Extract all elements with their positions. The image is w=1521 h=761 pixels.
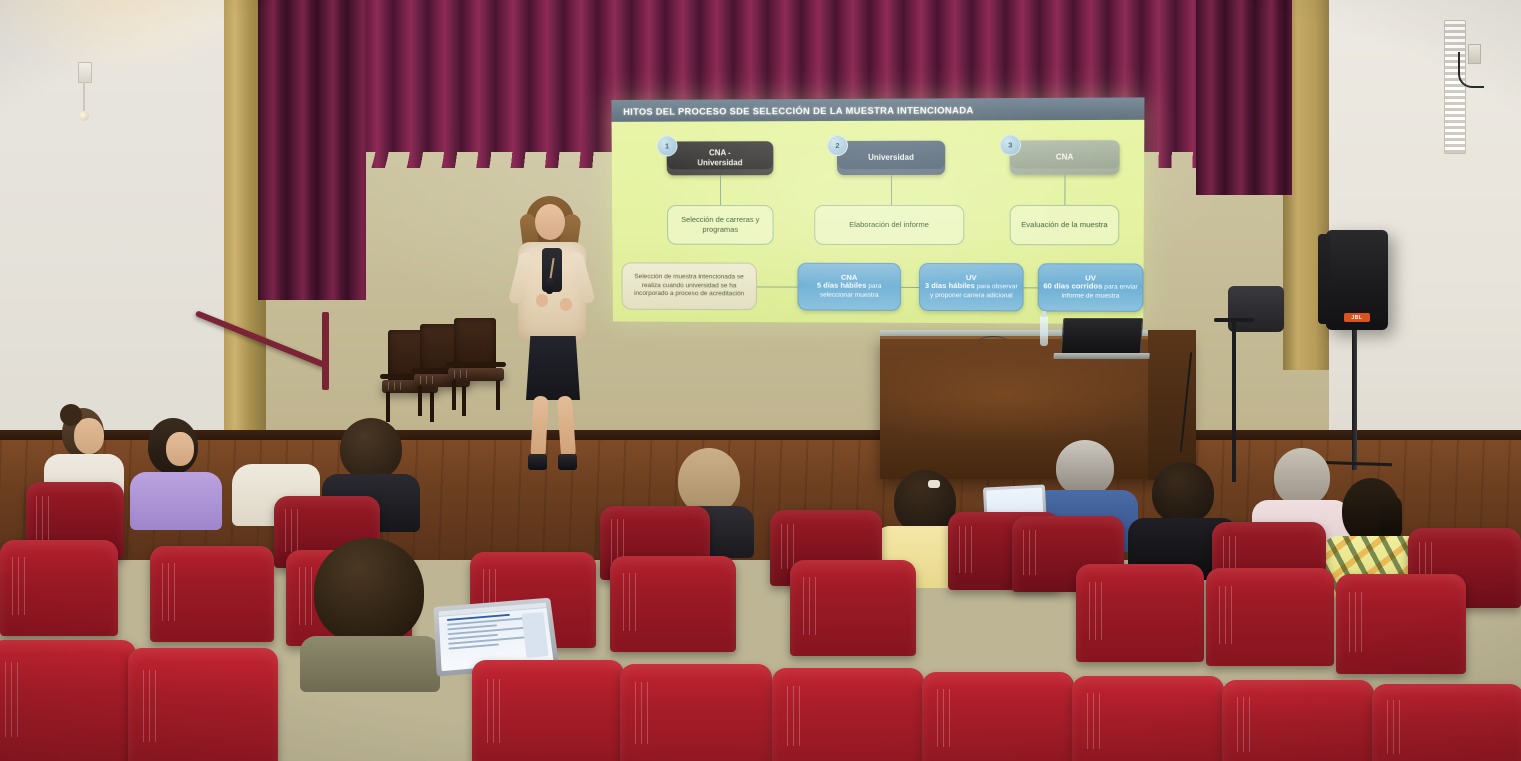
stage-stair-post (322, 312, 329, 390)
slide-note-box: Selección de muestra intencionada se rea… (621, 262, 757, 310)
presenter-skirt (526, 336, 580, 400)
slide-connector-1 (720, 175, 722, 205)
jbl-logo: JBL (1344, 313, 1370, 322)
theater-seat[interactable] (150, 546, 274, 642)
theater-seat[interactable] (1206, 568, 1334, 666)
slide-step-1-actor-box: CNA - Universidad (667, 141, 774, 175)
desk-laptop (1061, 318, 1144, 354)
audience-member (130, 418, 226, 526)
wall-light-strip-icon (1444, 20, 1466, 154)
stage-chair (448, 318, 506, 410)
theater-seat[interactable] (128, 648, 278, 761)
water-bottle (1040, 316, 1048, 346)
timeline-1-duration: 5 días hábiles (817, 281, 867, 290)
slide-connector-2 (891, 175, 892, 205)
equipment-bag (1228, 286, 1284, 332)
microphone-stand (1232, 322, 1236, 482)
presenter-face (535, 204, 565, 240)
step-1-actor-line1: CNA - (709, 148, 731, 157)
podium (1148, 330, 1196, 480)
theater-seat[interactable] (1372, 684, 1521, 761)
presenter-shoe (528, 454, 547, 470)
slide-step-2-task: Elaboración del informe (814, 205, 964, 245)
step-1-actor-line2: Universidad (697, 158, 742, 167)
stage-curtain-right (1196, 0, 1292, 195)
handheld-microphone (546, 278, 553, 294)
slide-step-3-task: Evaluación de la muestra (1010, 205, 1120, 245)
theater-seat[interactable] (1336, 574, 1466, 674)
slide-step-1-number: 1 (657, 136, 678, 157)
slide-step-1-task: Selección de carreras y programas (667, 205, 774, 245)
jbl-speaker: JBL (1326, 230, 1388, 330)
slide-timeline-box-3: UV 60 días corridos para enviar informe … (1038, 263, 1144, 312)
theater-seat[interactable] (790, 560, 916, 656)
theater-seat[interactable] (922, 672, 1074, 761)
slide-connector-3 (1064, 175, 1066, 205)
slide-timeline-line-3 (1024, 287, 1038, 288)
timeline-3-duration: 60 días corridos (1043, 282, 1102, 291)
eyeglasses (978, 336, 1008, 342)
speaker-stand-pole (1352, 330, 1357, 470)
slide-body: CNA - Universidad 1 Selección de carrera… (612, 120, 1145, 324)
theater-seat[interactable] (472, 660, 624, 761)
theater-seat[interactable] (772, 668, 924, 761)
step-2-actor-line1: Universidad (868, 153, 914, 163)
theater-seat[interactable] (0, 540, 118, 636)
slide-header-bar: HITOS DEL PROCESO SDE SELECCIÓN DE LA MU… (611, 97, 1144, 121)
theater-seat[interactable] (620, 664, 772, 761)
projection-screen: HITOS DEL PROCESO SDE SELECCIÓN DE LA MU… (611, 97, 1144, 324)
theater-seat[interactable] (1072, 676, 1224, 761)
wall-sconce-icon (78, 62, 92, 83)
theater-seat[interactable] (610, 556, 736, 652)
slide-timeline-box-1: CNA 5 días hábiles para seleccionar mues… (797, 263, 901, 311)
slide-timeline-line-1 (757, 286, 799, 287)
slide-step-3-actor-box: CNA (1010, 140, 1120, 175)
theater-seat[interactable] (1076, 564, 1204, 662)
timeline-2-duration: 3 días hábiles (925, 281, 975, 290)
stage-curtain-left (258, 0, 366, 300)
wall-wire (1458, 52, 1484, 88)
theater-seat[interactable] (1222, 680, 1374, 761)
presenter-shoe (558, 454, 577, 470)
presenter (502, 196, 602, 476)
slide-timeline-box-2: UV 3 días hábiles para observar y propon… (919, 263, 1024, 311)
auditorium-scene: HITOS DEL PROCESO SDE SELECCIÓN DE LA MU… (0, 0, 1521, 761)
slide-step-2-actor-box: Universidad (837, 141, 945, 175)
audience-member (296, 538, 446, 688)
slide-step-3-number: 3 (1000, 134, 1021, 155)
step-3-actor-line1: CNA (1056, 152, 1074, 162)
slide-timeline-line-2 (901, 287, 919, 288)
wall-sconce-bulb-icon (79, 111, 89, 121)
theater-seat[interactable] (0, 640, 136, 761)
slide-step-2-number: 2 (827, 135, 848, 156)
slide-title: HITOS DEL PROCESO SDE SELECCIÓN DE LA MU… (611, 104, 973, 117)
